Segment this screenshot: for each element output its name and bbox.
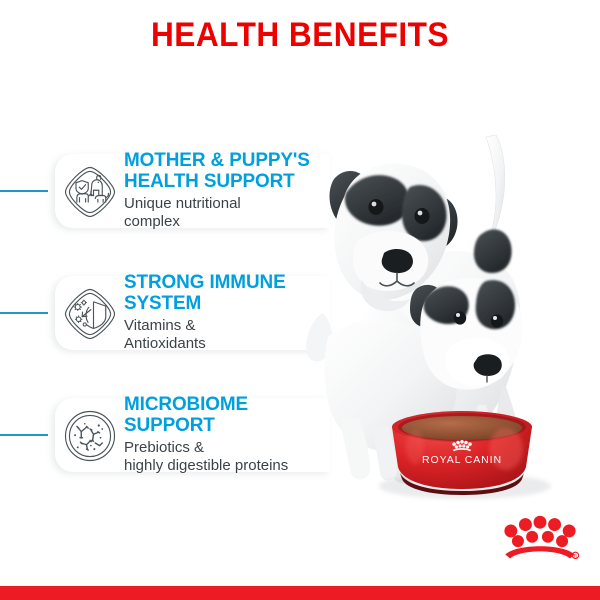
benefit-item-strong-immune-system: STRONG IMMUNE SYSTEM Vitamins & Antioxid… xyxy=(0,272,330,394)
microbiome-bacteria-icon xyxy=(62,408,118,464)
shield-germs-immunity-icon xyxy=(62,286,118,342)
benefit-item-microbiome-support: MICROBIOME SUPPORT Prebiotics & highly d… xyxy=(0,394,330,516)
benefit-title: MOTHER & PUPPY'S HEALTH SUPPORT xyxy=(124,150,328,192)
page-title: HEALTH BENEFITS xyxy=(21,16,579,55)
benefit-texts: MOTHER & PUPPY'S HEALTH SUPPORT Unique n… xyxy=(124,150,334,230)
svg-text:ROYAL CANIN: ROYAL CANIN xyxy=(422,454,502,466)
benefits-list: MOTHER & PUPPY'S HEALTH SUPPORT Unique n… xyxy=(0,150,330,516)
benefit-subtitle: Vitamins & Antioxidants xyxy=(124,317,334,352)
royal-canin-crown-logo: R xyxy=(500,512,580,564)
svg-text:R: R xyxy=(574,554,578,560)
bottom-red-bar xyxy=(0,586,600,600)
benefit-texts: MICROBIOME SUPPORT Prebiotics & highly d… xyxy=(124,394,334,474)
benefit-title: STRONG IMMUNE SYSTEM xyxy=(124,272,328,314)
connector-line xyxy=(0,190,48,192)
connector-line xyxy=(0,434,48,436)
benefit-item-mother-puppy-health-support: MOTHER & PUPPY'S HEALTH SUPPORT Unique n… xyxy=(0,150,330,272)
benefit-title: MICROBIOME SUPPORT xyxy=(124,394,328,436)
benefit-texts: STRONG IMMUNE SYSTEM Vitamins & Antioxid… xyxy=(124,272,334,352)
dog-and-puppy-shield-icon xyxy=(62,164,118,220)
benefit-subtitle: Unique nutritional complex xyxy=(124,195,334,230)
connector-line xyxy=(0,312,48,314)
benefit-subtitle: Prebiotics & highly digestible proteins xyxy=(124,439,334,474)
product-photo: ROYAL CANIN xyxy=(300,75,600,520)
